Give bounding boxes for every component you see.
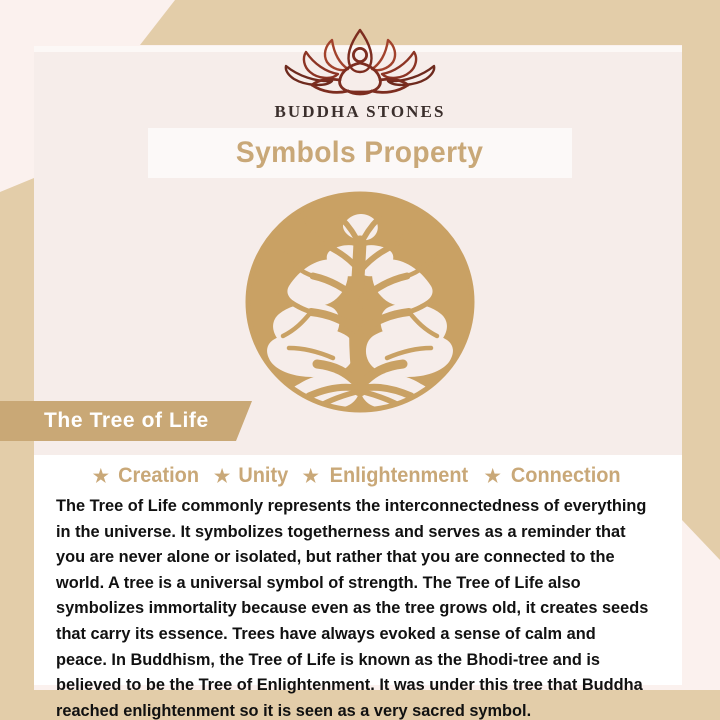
- frame-band-left: [0, 178, 34, 720]
- description-paragraph: The Tree of Life commonly represents the…: [56, 493, 651, 720]
- lotus-meditation-icon: [270, 22, 450, 98]
- description-card: ★ Creation ★ Unity ★ Enlightenment ★ Con…: [34, 455, 682, 685]
- keyword-item-enlightenment: ★ Enlightenment: [303, 464, 472, 488]
- infographic-page: BUDDHA STONES Symbols Property: [0, 0, 720, 720]
- keyword-item-unity: ★ Unity: [214, 464, 290, 488]
- keyword-list: ★ Creation ★ Unity ★ Enlightenment ★ Con…: [34, 455, 682, 488]
- title-strip: Symbols Property: [148, 128, 572, 178]
- keyword-label: Enlightenment: [329, 464, 468, 488]
- tree-of-life-medallion-icon: [243, 190, 477, 414]
- keyword-label: Creation: [118, 464, 199, 488]
- tree-of-life-illustration: [243, 190, 477, 414]
- star-icon: ★: [93, 467, 109, 485]
- keyword-label: Connection: [511, 464, 621, 488]
- star-icon: ★: [485, 467, 501, 485]
- star-icon: ★: [303, 467, 319, 485]
- brand-logo: BUDDHA STONES: [0, 22, 720, 122]
- keyword-label: Unity: [238, 464, 288, 488]
- star-icon: ★: [214, 467, 230, 485]
- keyword-item-connection: ★ Connection: [485, 464, 624, 488]
- symbol-label-ribbon: The Tree of Life: [0, 401, 252, 441]
- keyword-item-creation: ★ Creation: [93, 464, 201, 488]
- symbol-label: The Tree of Life: [44, 409, 209, 433]
- brand-name: BUDDHA STONES: [0, 102, 720, 122]
- page-title: Symbols Property: [236, 136, 483, 170]
